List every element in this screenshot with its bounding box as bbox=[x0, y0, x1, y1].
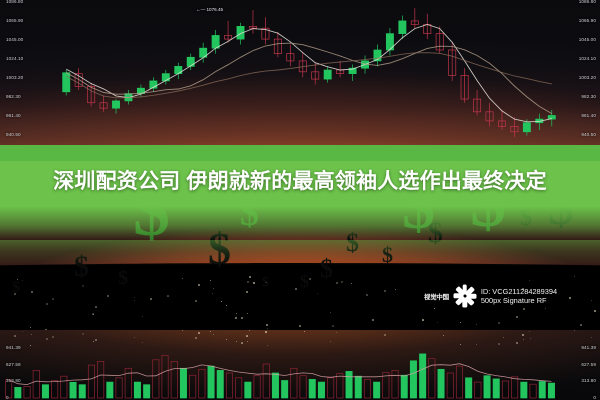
sparkle-dot bbox=[437, 322, 438, 323]
sparkle-dot bbox=[265, 331, 267, 333]
axis-tick-label: 940.50 bbox=[581, 132, 596, 137]
sparkle-dot bbox=[529, 331, 530, 332]
sparkle-dot bbox=[247, 341, 248, 342]
sparkle-dot bbox=[267, 345, 268, 346]
sparkle-dot bbox=[591, 300, 592, 301]
sparkle-dot bbox=[46, 338, 48, 340]
moving-average-mid-line bbox=[66, 43, 552, 114]
sparkle-dot bbox=[241, 342, 243, 344]
sparkle-dot bbox=[476, 324, 477, 325]
watermark-brand-label: 视觉中国 bbox=[424, 291, 449, 301]
green-overlay-fade-bottom bbox=[0, 240, 600, 266]
sparkle-dot bbox=[235, 317, 237, 319]
sparkle-dot bbox=[422, 319, 424, 321]
sparkle-dot bbox=[134, 337, 135, 338]
dollar-sign-glyph: $ bbox=[118, 268, 128, 288]
axis-tick-label: 1024.10 bbox=[6, 56, 23, 61]
axis-tick-label: 961.40 bbox=[6, 113, 21, 118]
sparkle-dot bbox=[92, 313, 94, 315]
sparkle-dot bbox=[395, 289, 396, 290]
axis-tick-label: 313.80 bbox=[6, 378, 21, 383]
watermark-text-block: ID: VCG211284289394 500px Signature RF bbox=[481, 287, 557, 306]
moving-average-fast-line bbox=[66, 25, 552, 122]
sparkle-dot bbox=[134, 300, 135, 301]
sparkle-dot bbox=[522, 334, 524, 336]
sparkle-dot bbox=[167, 295, 169, 297]
axis-tick-label: 1086.80 bbox=[579, 0, 596, 4]
sparkle-dot bbox=[498, 343, 500, 345]
sparkle-dot bbox=[182, 330, 183, 331]
starburst-icon bbox=[452, 283, 478, 309]
volume-chart-plot bbox=[0, 330, 600, 400]
sparkle-dot bbox=[530, 338, 531, 339]
sparkle-dot bbox=[142, 342, 143, 343]
sparkle-dot bbox=[266, 324, 268, 326]
sparkle-dot bbox=[241, 317, 243, 319]
sparkle-dot bbox=[46, 303, 48, 305]
axis-tick-label: 1045.00 bbox=[6, 37, 23, 42]
sparkle-dot bbox=[249, 276, 251, 278]
sparkle-dot bbox=[295, 288, 297, 290]
headline-title: 深圳配资公司 伊朗就新的最高领袖人选作出最终决定 bbox=[14, 168, 586, 196]
green-band-over-chart bbox=[0, 145, 600, 161]
sparkle-dot bbox=[30, 345, 31, 346]
watermark: 视觉中国 ID: VCG211284289394 500px Signature… bbox=[424, 283, 557, 309]
sparkle-dot bbox=[213, 288, 214, 289]
sparkle-dot bbox=[267, 328, 268, 329]
sparkle-dot bbox=[580, 324, 582, 326]
sparkle-dot bbox=[52, 336, 54, 338]
sparkle-dot bbox=[594, 310, 596, 312]
sparkle-dot bbox=[529, 280, 530, 281]
axis-tick-label: 627.59 bbox=[581, 362, 596, 367]
dollar-sign-glyph: $ bbox=[12, 280, 20, 296]
sparkle-dot bbox=[591, 337, 592, 338]
sparkle-dot bbox=[384, 290, 386, 292]
sparkle-dot bbox=[22, 331, 23, 332]
axis-tick-label: 1086.80 bbox=[6, 0, 23, 4]
sparkle-dot bbox=[30, 327, 31, 328]
sparkle-dot bbox=[299, 325, 301, 327]
sparkle-dot bbox=[246, 291, 248, 293]
axis-tick-label: 982.30 bbox=[581, 94, 596, 99]
axis-tick-label: 941.39 bbox=[6, 345, 21, 350]
axis-tick-label: 941.39 bbox=[581, 345, 596, 350]
watermark-license: 500px Signature RF bbox=[481, 296, 547, 305]
sparkle-dot bbox=[82, 333, 84, 335]
axis-tick-label: 982.30 bbox=[6, 94, 21, 99]
volume-chart: 941.39627.59313.800 941.39627.59313.800 bbox=[0, 330, 600, 400]
sparkle-dot bbox=[332, 325, 334, 327]
axis-tick-label: 1024.10 bbox=[579, 56, 596, 61]
axis-tick-label: 1065.90 bbox=[579, 18, 596, 23]
sparkle-dot bbox=[14, 335, 16, 337]
axis-tick-label: 0 bbox=[6, 395, 9, 400]
candlestick-series bbox=[63, 8, 556, 137]
axis-tick-label: 1065.90 bbox=[6, 18, 23, 23]
sparkle-dot bbox=[246, 335, 248, 337]
sparkle-dot bbox=[95, 339, 97, 341]
image-canvas: ←— 1076.45 1086.801065.901045.001024.101… bbox=[0, 0, 600, 400]
sparkle-dot bbox=[253, 282, 255, 284]
axis-tick-label: 313.80 bbox=[581, 378, 596, 383]
sparkle-dot bbox=[95, 306, 97, 308]
sparkle-dot bbox=[498, 322, 500, 324]
axis-tick-label: 0 bbox=[593, 395, 596, 400]
sparkle-dot bbox=[213, 334, 214, 335]
axis-tick-label: 1003.20 bbox=[579, 75, 596, 80]
sparkle-dot bbox=[52, 298, 54, 300]
sparkle-dot bbox=[476, 344, 477, 345]
sparkle-dot bbox=[221, 301, 222, 302]
sparkle-dot bbox=[317, 293, 318, 294]
sparkle-dot bbox=[236, 313, 237, 314]
sparkle-dot bbox=[198, 284, 200, 286]
dollar-sign-glyph: $ bbox=[300, 272, 309, 290]
sparkle-dot bbox=[574, 330, 575, 331]
sparkle-dot bbox=[384, 334, 386, 336]
sparkle-dot bbox=[182, 278, 183, 279]
axis-tick-label: 1045.00 bbox=[579, 37, 596, 42]
sparkle-dot bbox=[198, 332, 200, 334]
axis-tick-label: 961.40 bbox=[581, 113, 596, 118]
sparkle-dot bbox=[150, 298, 152, 300]
price-annotation: ←— 1076.45 bbox=[196, 7, 223, 12]
dollar-sign-glyph: $ bbox=[262, 276, 269, 290]
sparkle-dot bbox=[31, 291, 33, 293]
price-chart: ←— 1076.45 1086.801065.901045.001024.101… bbox=[0, 0, 600, 160]
price-chart-plot bbox=[0, 0, 600, 160]
axis-tick-label: 940.50 bbox=[6, 132, 21, 137]
sparkle-dot bbox=[247, 313, 248, 314]
watermark-id: ID: VCG211284289394 bbox=[481, 287, 557, 296]
sparkle-dot bbox=[22, 280, 23, 281]
axis-tick-label: 1003.20 bbox=[6, 75, 23, 80]
sparkle-dot bbox=[93, 341, 94, 342]
sparkle-dot bbox=[236, 341, 237, 342]
sparkle-dot bbox=[336, 282, 338, 284]
axis-tick-label: 627.59 bbox=[6, 362, 21, 367]
volume-bar-series bbox=[6, 354, 555, 398]
